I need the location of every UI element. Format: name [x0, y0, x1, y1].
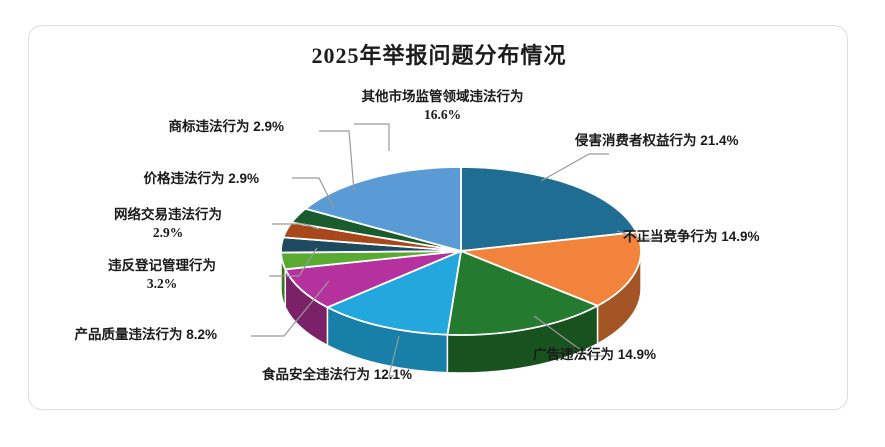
label-online-trading: 网络交易违法行为 2.9%	[93, 206, 243, 242]
chart-card: 2025年举报问题分布情况 其他市场监管领域违法行为 16.6% 侵害消费者权益…	[28, 25, 848, 410]
label-other-name: 其他市场监管领域违法行为	[335, 88, 550, 106]
label-registration-name: 违反登记管理行为	[87, 257, 237, 275]
label-other-value: 16.6%	[335, 106, 550, 124]
label-online-value: 2.9%	[93, 224, 243, 242]
label-unfair-competition: 不正当竞争行为 14.9%	[623, 228, 760, 246]
label-other-market-supervision: 其他市场监管领域违法行为 16.6%	[335, 88, 550, 124]
label-price: 价格违法行为 2.9%	[89, 170, 259, 188]
pie-slices	[281, 167, 641, 373]
label-food-safety: 食品安全违法行为 12.1%	[247, 366, 427, 384]
label-registration: 违反登记管理行为 3.2%	[87, 257, 237, 293]
label-online-name: 网络交易违法行为	[93, 206, 243, 224]
label-trademark: 商标违法行为 2.9%	[119, 118, 284, 136]
leader-line-consumer	[541, 154, 609, 181]
label-consumer-rights: 侵害消费者权益行为 21.4%	[575, 132, 739, 150]
leader-line-trademark	[319, 131, 354, 191]
label-registration-value: 3.2%	[87, 275, 237, 293]
label-advertising: 广告违法行为 14.9%	[533, 346, 656, 364]
leader-line-other	[354, 124, 389, 151]
label-product-quality: 产品质量违法行为 8.2%	[47, 326, 217, 344]
